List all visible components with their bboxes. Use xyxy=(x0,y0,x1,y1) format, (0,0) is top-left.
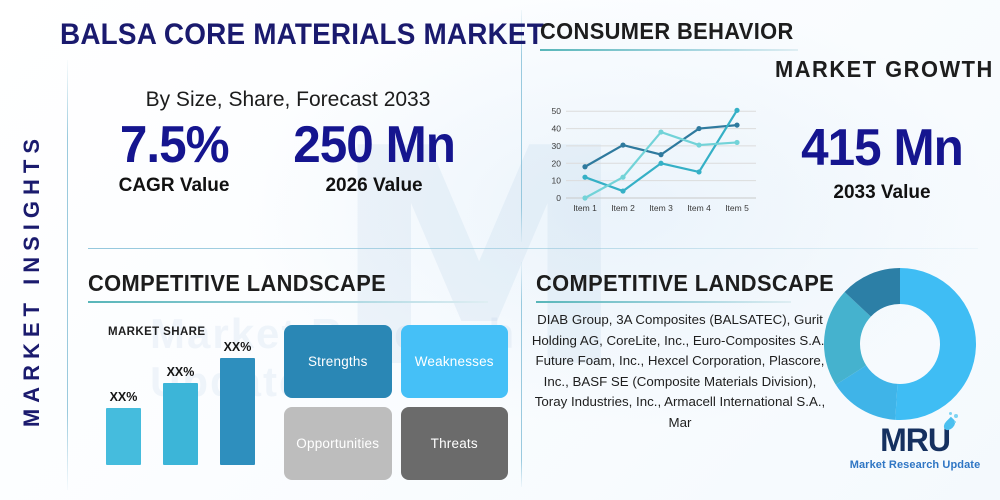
svg-text:20: 20 xyxy=(552,158,562,168)
svg-text:Item 5: Item 5 xyxy=(725,203,749,213)
brand-logo: MRU Market Research Update xyxy=(845,424,985,471)
market-share-title: MARKET SHARE xyxy=(108,326,205,338)
stat-cagr: 7.5% CAGR Value xyxy=(117,118,232,197)
logo-mark: MRU xyxy=(880,424,950,456)
swot-grid: StrengthsWeaknessesOpportunitiesThreats xyxy=(284,325,508,480)
bar-item: XX% xyxy=(163,340,198,465)
stats-row: 7.5% CAGR Value 250 Mn 2026 Value xyxy=(88,118,488,197)
donut-svg xyxy=(822,266,978,422)
section-header-competitive-landscape-right-text: COMPETITIVE LANDSCAPE xyxy=(536,270,778,297)
svg-text:0: 0 xyxy=(556,193,561,203)
svg-text:Item 1: Item 1 xyxy=(573,203,597,213)
svg-text:30: 30 xyxy=(552,141,562,151)
bar xyxy=(220,358,255,465)
bar xyxy=(106,408,141,466)
logo-subtitle: Market Research Update xyxy=(845,459,985,471)
bar-value-label: XX% xyxy=(224,340,252,354)
svg-text:10: 10 xyxy=(552,176,562,186)
bar-item: XX% xyxy=(106,340,141,465)
market-growth-label: 2033 Value xyxy=(772,182,992,204)
consumer-behavior-line-chart: 01020304050 Item 1Item 2Item 3Item 4Item… xyxy=(540,98,760,220)
line-chart-svg: 01020304050 Item 1Item 2Item 3Item 4Item… xyxy=(540,98,760,220)
stat-cagr-label: CAGR Value xyxy=(117,175,232,197)
market-share-donut-chart xyxy=(822,266,978,422)
stat-2026-label: 2026 Value xyxy=(289,175,459,197)
section-rule xyxy=(88,301,488,303)
svg-text:50: 50 xyxy=(552,106,562,116)
svg-text:Item 4: Item 4 xyxy=(687,203,711,213)
swot-cell-threats[interactable]: Threats xyxy=(401,407,509,480)
market-growth-value: 415 Mn xyxy=(778,118,987,178)
stat-cagr-value: 7.5% xyxy=(120,118,229,173)
bar-item: XX% xyxy=(220,340,255,465)
side-label-text: MARKET INSIGHTS xyxy=(19,133,45,427)
divider-vertical-bottom xyxy=(521,262,522,487)
bar xyxy=(163,383,198,466)
section-header-competitive-landscape-right: COMPETITIVE LANDSCAPE xyxy=(536,270,791,303)
page-title: BALSA CORE MATERIALS MARKET xyxy=(60,18,479,52)
svg-text:40: 40 xyxy=(552,124,562,134)
donut-segment xyxy=(895,268,976,420)
section-header-competitive-landscape-left-text: COMPETITIVE LANDSCAPE xyxy=(88,270,468,297)
logo-mark-text: MRU xyxy=(880,422,950,458)
section-rule xyxy=(536,301,791,303)
divider-vertical-left xyxy=(67,60,68,490)
bar-value-label: XX% xyxy=(110,390,138,404)
swot-cell-strengths[interactable]: Strengths xyxy=(284,325,392,398)
infographic-canvas: M Market Research Update MARKET INSIGHTS… xyxy=(0,0,1000,500)
swot-cell-weaknesses[interactable]: Weaknesses xyxy=(401,325,509,398)
side-label: MARKET INSIGHTS xyxy=(0,70,64,490)
stat-2026-value: 250 Mn xyxy=(293,118,455,173)
svg-text:Item 2: Item 2 xyxy=(611,203,635,213)
market-share-bar-chart: XX%XX%XX% xyxy=(100,340,270,465)
chart-series-group xyxy=(582,108,739,201)
section-header-consumer-behavior: CONSUMER BEHAVIOR xyxy=(540,18,798,51)
bar-group: XX%XX%XX% xyxy=(106,340,255,465)
chart-y-axis-labels: 01020304050 xyxy=(552,106,562,203)
donut-segments xyxy=(824,268,976,420)
section-header-consumer-behavior-text: CONSUMER BEHAVIOR xyxy=(540,18,785,45)
swot-cell-opportunities[interactable]: Opportunities xyxy=(284,407,392,480)
bar-value-label: XX% xyxy=(167,365,195,379)
page-subtitle: By Size, Share, Forecast 2033 xyxy=(88,88,488,112)
stat-2026: 250 Mn 2026 Value xyxy=(289,118,459,197)
competitor-list: DIAB Group, 3A Composites (BALSATEC), Gu… xyxy=(530,310,830,434)
svg-text:Item 3: Item 3 xyxy=(649,203,673,213)
section-header-competitive-landscape-left: COMPETITIVE LANDSCAPE xyxy=(88,270,488,303)
market-growth-heading: MARKET GROWTH xyxy=(775,56,994,83)
section-rule xyxy=(540,49,798,51)
chart-x-axis-labels: Item 1Item 2Item 3Item 4Item 5 xyxy=(573,203,749,213)
divider-horizontal xyxy=(88,248,978,249)
